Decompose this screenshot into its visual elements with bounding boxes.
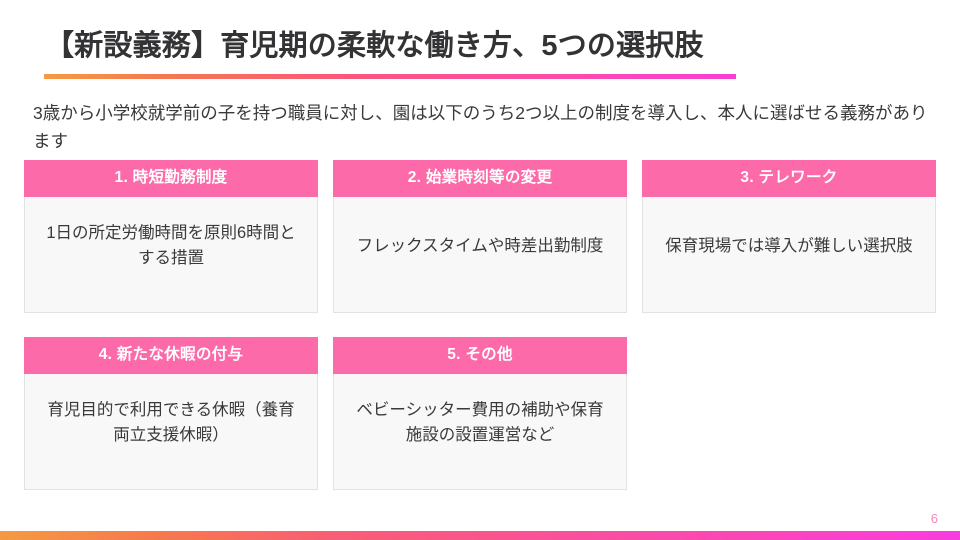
option-card-4-body-text: 育児目的で利用できる休暇（養育両立支援休暇）: [43, 398, 299, 449]
option-card-1-body: 1日の所定労働時間を原則6時間とする措置: [25, 197, 317, 312]
option-card-4: 4. 新たな休暇の付与 育児目的で利用できる休暇（養育両立支援休暇）: [24, 337, 318, 490]
option-card-5: 5. その他 ベビーシッター費用の補助や保育施設の設置運営など: [333, 337, 627, 490]
option-card-5-body-text: ベビーシッター費用の補助や保育施設の設置運営など: [352, 398, 608, 449]
option-card-1-header: 1. 時短勤務制度: [24, 160, 318, 197]
option-card-5-body: ベビーシッター費用の補助や保育施設の設置運営など: [334, 374, 626, 489]
page-title: 【新設義務】育児期の柔軟な働き方、5つの選択肢: [45, 22, 704, 64]
page-number: 6: [931, 511, 938, 526]
option-card-2-header: 2. 始業時刻等の変更: [333, 160, 627, 197]
option-card-grid: 1. 時短勤務制度 1日の所定労働時間を原則6時間とする措置 2. 始業時刻等の…: [24, 160, 936, 490]
slide-canvas: 【新設義務】育児期の柔軟な働き方、5つの選択肢 3歳から小学校就学前の子を持つ職…: [0, 0, 960, 540]
option-card-3-body-text: 保育現場では導入が難しい選択肢: [665, 234, 913, 260]
option-card-3-body: 保育現場では導入が難しい選択肢: [643, 197, 935, 312]
option-card-2-body-text: フレックスタイムや時差出勤制度: [357, 234, 604, 260]
title-gradient-divider: [44, 74, 736, 79]
option-card-2: 2. 始業時刻等の変更 フレックスタイムや時差出勤制度: [333, 160, 627, 313]
option-card-5-header: 5. その他: [333, 337, 627, 374]
footer-gradient-bar: [0, 531, 960, 540]
option-card-3: 3. テレワーク 保育現場では導入が難しい選択肢: [642, 160, 936, 313]
lead-paragraph: 3歳から小学校就学前の子を持つ職員に対し、園は以下のうち2つ以上の制度を導入し、…: [33, 99, 933, 156]
option-card-1: 1. 時短勤務制度 1日の所定労働時間を原則6時間とする措置: [24, 160, 318, 313]
option-card-2-body: フレックスタイムや時差出勤制度: [334, 197, 626, 312]
option-card-4-body: 育児目的で利用できる休暇（養育両立支援休暇）: [25, 374, 317, 489]
option-card-1-body-text: 1日の所定労働時間を原則6時間とする措置: [43, 221, 299, 272]
option-card-4-header: 4. 新たな休暇の付与: [24, 337, 318, 374]
option-card-3-header: 3. テレワーク: [642, 160, 936, 197]
